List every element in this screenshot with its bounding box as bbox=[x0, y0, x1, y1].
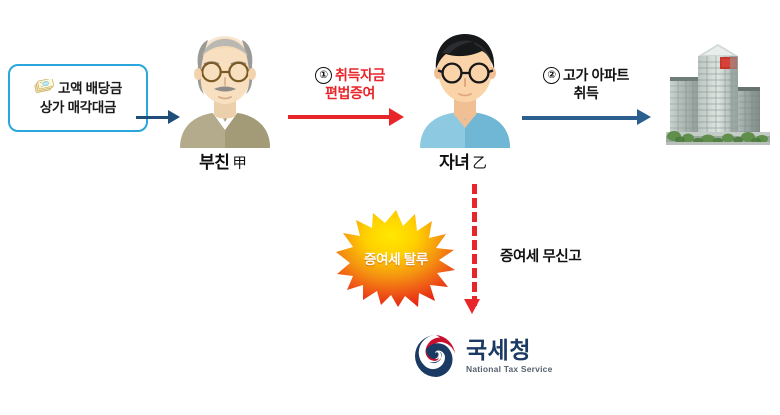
burst-badge: 증여세 탈루 bbox=[336, 208, 456, 308]
child-name-ko: 자녀 bbox=[439, 153, 469, 172]
circled-number-2-icon: ② bbox=[543, 67, 560, 84]
young-man-avatar-icon bbox=[412, 26, 518, 148]
income-line-1-text: 고액 배당금 bbox=[58, 80, 122, 98]
flow-1-text-2: 편법증여 bbox=[296, 85, 404, 103]
child-label: 자녀乙 bbox=[408, 148, 518, 173]
income-line-2-text: 상가 매각대금 bbox=[40, 99, 116, 117]
flow-2-line-1: ②고가 아파트 bbox=[524, 67, 648, 85]
income-line-1: 고액 배당금 bbox=[34, 79, 122, 98]
arrow-child-to-apartment-head bbox=[637, 109, 651, 125]
nts-wordmark: 국세청 National Tax Service bbox=[466, 338, 553, 374]
flow-label-1: ①취득자금 편법증여 bbox=[296, 67, 404, 102]
income-source-box: 고액 배당금 상가 매각대금 bbox=[8, 64, 148, 132]
child-name-cn: 乙 bbox=[472, 156, 487, 172]
arrow-source-to-father bbox=[136, 116, 170, 119]
nts-logo: 국세청 National Tax Service bbox=[414, 325, 564, 387]
arrow-child-to-nts-head bbox=[464, 299, 480, 314]
arrow-father-to-child-head bbox=[389, 108, 404, 126]
arrow-father-to-child bbox=[288, 115, 392, 119]
flow-1-line-1: ①취득자금 bbox=[296, 67, 404, 85]
nts-taegeuk-swirl-icon bbox=[414, 334, 458, 378]
arrow-child-to-nts bbox=[472, 184, 477, 306]
elderly-man-avatar-icon bbox=[172, 26, 278, 148]
burst-text: 증여세 탈루 bbox=[336, 248, 456, 268]
circled-number-1-icon: ① bbox=[315, 67, 332, 84]
nts-name-ko: 국세청 bbox=[466, 338, 553, 362]
apartment-building-photo bbox=[662, 28, 774, 150]
nts-name-en: National Tax Service bbox=[466, 364, 553, 374]
money-banknotes-icon bbox=[34, 79, 54, 98]
flow-2-text-2: 취득 bbox=[524, 85, 648, 103]
arrow-child-to-apartment bbox=[522, 116, 640, 120]
flow-1-text-1: 취득자금 bbox=[335, 67, 385, 83]
father-name-cn: 甲 bbox=[232, 156, 247, 172]
diagram-canvas: 고액 배당금 상가 매각대금 bbox=[0, 0, 780, 415]
undeclared-tax-label: 증여세 무신고 bbox=[500, 245, 581, 266]
flow-2-text-1: 고가 아파트 bbox=[563, 67, 629, 83]
flow-label-2: ②고가 아파트 취득 bbox=[524, 67, 648, 102]
father-label: 부친甲 bbox=[168, 148, 278, 173]
father-name-ko: 부친 bbox=[199, 153, 229, 172]
income-line-2: 상가 매각대금 bbox=[40, 99, 116, 117]
